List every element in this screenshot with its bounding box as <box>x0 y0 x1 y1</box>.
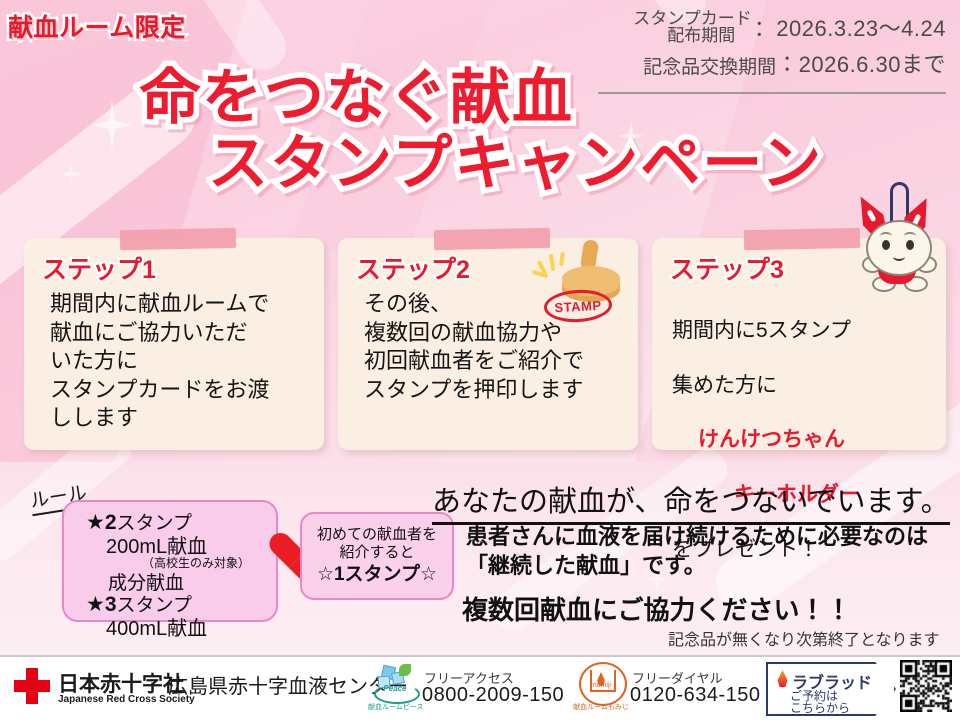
message-callout: 複数回献血にご協力ください！！ <box>462 590 851 627</box>
step-3-line-1: 期間内に5スタンプ <box>672 317 936 344</box>
title-line-2: スタンプキャンペーン <box>208 134 800 194</box>
step-2-body: その後、 複数回の献血協力や 初回献血者をご紹介で スタンプを押印します <box>364 290 628 404</box>
blood-drop-icon <box>776 670 789 687</box>
momiji-logo-name: momiji <box>578 682 624 689</box>
stamp-card-label-line1: スタンプカード <box>633 10 752 27</box>
title-line-1: 命をつなぐ献血 <box>140 68 800 128</box>
washi-tape-decoration <box>120 228 236 250</box>
stamp-card-label-line2: 配布期間 <box>667 27 735 44</box>
kenketsu-chan-mascot-icon: けんけつ <box>846 180 952 292</box>
step-3-highlight-1: けんけつちゃん <box>698 426 936 453</box>
gift-exchange-value: ：2026.6.30まで <box>776 47 946 79</box>
momiji-room-logo-icon: momiji 献血ルームもみじ <box>578 662 624 710</box>
washi-tape-decoration <box>744 228 860 250</box>
peace-logo-text: Peace <box>372 684 418 693</box>
lovrad-line-2: こちらから <box>790 699 850 716</box>
step-2-label: ステップ2 <box>356 250 470 286</box>
stamp-card-period-row: スタンプカード 配布期間 ：2026.3.23～4.24 <box>574 10 946 45</box>
referral-line-3: ☆1スタンプ☆ <box>317 563 437 586</box>
free-dial-number[interactable]: 0120-634-150 <box>630 684 761 707</box>
step-3-label: ステップ3 <box>670 250 784 286</box>
message-note: 記念品が無くなり次第終了となります <box>668 626 940 650</box>
referral-line-2: 紹介すると <box>339 544 414 562</box>
step-1-body: 期間内に献血ルームで 献血にご協力いただ いた方に スタンプカードをお渡 ししま… <box>50 290 314 433</box>
free-access-number[interactable]: 0800-2009-150 <box>422 684 564 707</box>
message-body: 患者さんに血液を届け続けるために必要なのは 「継続した献血」です。 <box>466 522 928 580</box>
momiji-logo-sub: 献血ルームもみじ <box>573 702 629 712</box>
step-3-line-2: 集めた方に <box>672 372 936 399</box>
message-headline: あなたの献血が、命をつないでいます。 <box>432 478 950 525</box>
qr-code[interactable] <box>900 660 952 712</box>
step-card-2: ステップ2 STAMP その後、 複数回の献血協力や 初回献血者をご紹介で スタ… <box>338 238 638 450</box>
stamp-card-period-label: スタンプカード 配布期間 <box>633 10 752 45</box>
referral-line-1: 初めての献血者を <box>317 526 437 544</box>
red-cross-icon <box>14 668 50 704</box>
stamp-card-period-value: ：2026.3.23～4.24 <box>754 11 946 45</box>
step-card-1: ステップ1 期間内に献血ルームで 献血にご協力いただ いた方に スタンプカードを… <box>24 238 324 450</box>
rules-box: ★2スタンプ 200mL献血 （高校生のみ対象） 成分献血 ★3スタンプ 400… <box>62 500 278 622</box>
lovrad-reservation-button[interactable]: ラブラッド ご予約は こちらから <box>766 662 896 716</box>
step-card-3: ステップ3 けんけつ 期間内に5スタンプ 集めた方に けんけつちゃん キーホルダ… <box>652 238 946 450</box>
footer-divider <box>0 655 960 657</box>
peace-logo-sub: 献血ルームピース <box>368 702 422 712</box>
poster-root: 献血ルーム限定 スタンプカード 配布期間 ：2026.3.23～4.24 記念品… <box>0 0 960 720</box>
limited-badge: 献血ルーム限定 <box>8 8 186 44</box>
step-1-label: ステップ1 <box>42 250 156 286</box>
rule-line-5: 400mL献血 <box>106 612 207 641</box>
peace-room-logo-icon: Peace 献血ルームピース <box>372 662 418 710</box>
page-title: 命をつなぐ献血 スタンプキャンペーン <box>0 68 800 194</box>
referral-box: 初めての献血者を 紹介すると ☆1スタンプ☆ <box>300 512 454 600</box>
